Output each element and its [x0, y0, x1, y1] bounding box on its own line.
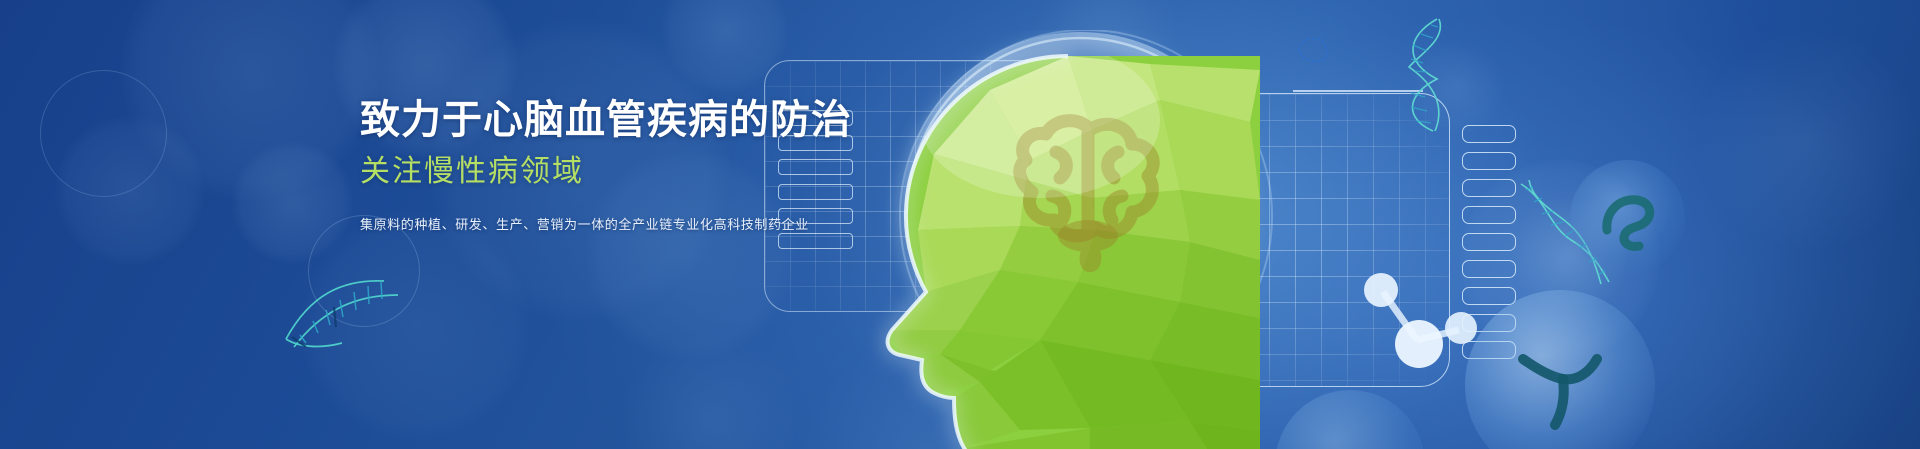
banner-copy: 致力于心脑血管疾病的防治 关注慢性病领域 集原料的种植、研发、生产、营销为一体的…	[360, 96, 830, 235]
bacteria-icon	[1505, 325, 1620, 440]
bokeh-circle	[620, 330, 800, 449]
cell-blob	[1465, 290, 1655, 449]
bokeh-circle	[660, 0, 790, 95]
hud-bar	[1462, 233, 1516, 251]
hud-bar	[1462, 341, 1516, 359]
hud-tick-line	[990, 388, 1155, 390]
hud-tick-line	[990, 91, 1155, 93]
hud-bar	[1462, 314, 1516, 332]
dna-helix-icon	[1513, 178, 1618, 288]
cell-outline-icon	[1295, 35, 1331, 65]
hud-bar	[1462, 287, 1516, 305]
molecule-icon	[1355, 270, 1485, 400]
cell-blob	[1275, 390, 1425, 449]
hud-tick-line	[1293, 90, 1423, 92]
bokeh-circle	[1510, 195, 1630, 315]
cell-blob	[1570, 160, 1685, 275]
bokeh-circle	[800, 330, 1060, 449]
bokeh-circle	[1700, 30, 1920, 250]
bokeh-circle	[1010, 215, 1060, 265]
banner-tagline: 集原料的种植、研发、生产、营销为一体的全产业链专业化高科技制药企业	[360, 215, 830, 235]
hud-bar	[1462, 125, 1516, 143]
dna-helix-icon	[280, 255, 415, 355]
hud-bar	[1462, 152, 1516, 170]
bokeh-circle	[1030, 0, 1180, 110]
bokeh-circle	[55, 115, 205, 265]
bacteria-icon	[1585, 178, 1670, 263]
hud-progress-bars-right	[1462, 125, 1516, 359]
bokeh-ring	[40, 70, 167, 197]
hud-grid	[1139, 94, 1449, 386]
hud-bar	[1462, 179, 1516, 197]
hud-panel-right	[1138, 93, 1450, 387]
bokeh-circle	[120, 0, 380, 200]
banner-subheadline: 关注慢性病领域	[360, 153, 830, 191]
bokeh-circle	[1410, 40, 1505, 135]
bokeh-circle	[230, 140, 355, 265]
bokeh-circle	[300, 210, 530, 440]
bokeh-circle	[1460, 160, 1660, 360]
hud-bar	[1462, 260, 1516, 278]
low-poly-head-graphic	[830, 30, 1310, 449]
hero-banner: 致力于心脑血管疾病的防治 关注慢性病领域 集原料的种植、研发、生产、营销为一体的…	[0, 0, 1920, 449]
hud-bar	[1462, 206, 1516, 224]
banner-headline: 致力于心脑血管疾病的防治	[360, 96, 830, 144]
dna-helix-icon	[1395, 15, 1455, 135]
